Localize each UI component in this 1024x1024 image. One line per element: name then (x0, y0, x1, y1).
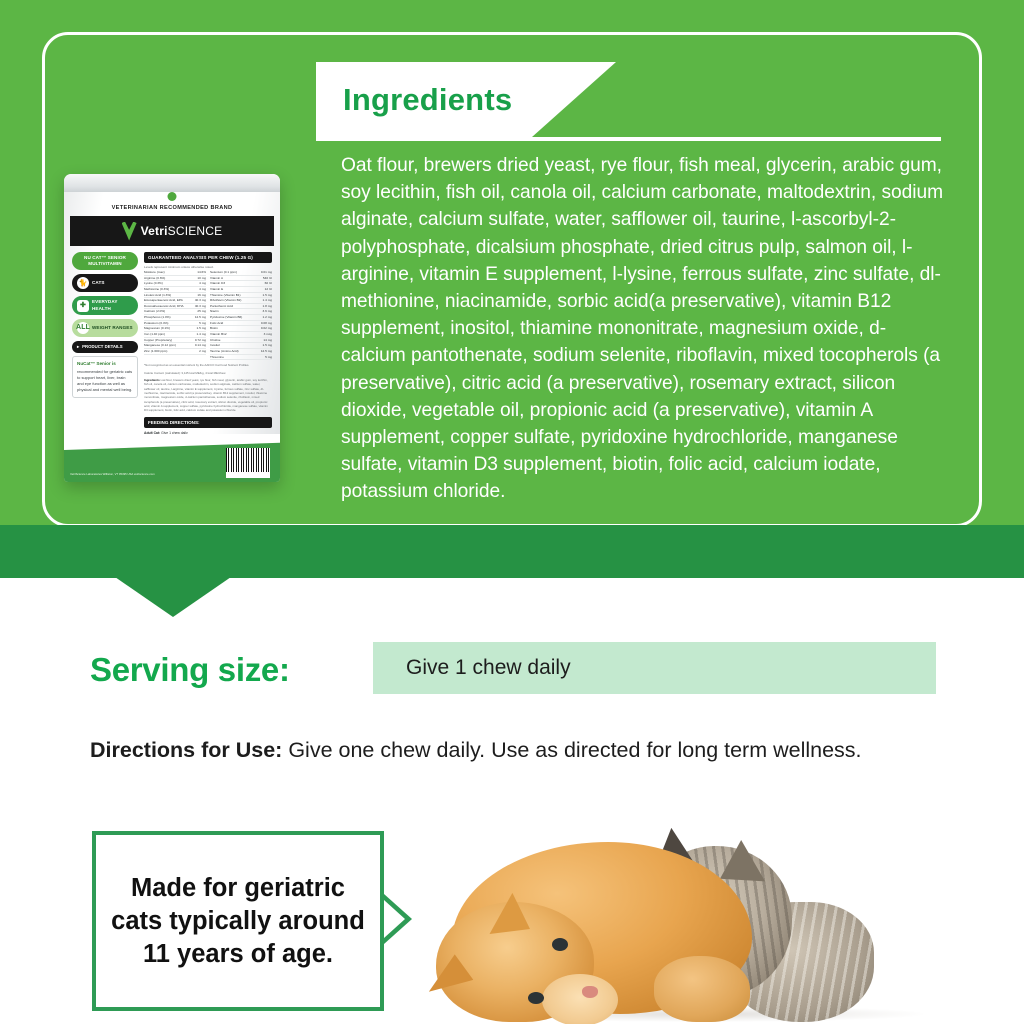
directions-for-use: Directions for Use: Give one chew daily.… (90, 735, 920, 765)
ginger-cat-muzzle (542, 974, 618, 1024)
analysis-amount: 0.14 mg (195, 343, 206, 348)
analysis-nutrient: Eicosapentaenoic Acid, EPA (144, 298, 183, 303)
badge-benefit: ✚ EVERYDAY HEALTH (72, 296, 138, 314)
barcode-icon (226, 448, 270, 478)
panel-down-arrow-icon (115, 577, 231, 617)
product-details-heading: NuCat™ Senior is (77, 361, 133, 368)
badge-benefit-label: EVERYDAY HEALTH (92, 299, 133, 311)
analysis-nutrient: Lysine (0.3%) (144, 281, 163, 286)
guaranteed-analysis-bar: GUARANTEED ANALYSIS PER CHEW (1.25 G) (144, 252, 272, 263)
analysis-nutrient: Biotin (210, 326, 218, 331)
analysis-nutrient: Selenium (0.1 ppm) (210, 270, 237, 275)
package-badge-column: NU CAT™ SENIOR MULTIVITAMIN 🐈 CATS ✚ EVE… (72, 252, 138, 398)
analysis-nutrient: Magnesium (0.1%) (144, 326, 170, 331)
analysis-nutrient: Folic Acid (210, 321, 223, 326)
badge-weight-range: ALL WEIGHT RANGES (72, 319, 138, 337)
ingredients-title: Ingredients (316, 82, 512, 118)
analysis-amount: 2 mg (199, 349, 206, 354)
aafco-note: *Not recognized as an essential nutrient… (144, 363, 272, 367)
analysis-column-right: Selenium (0.1 ppm)0.01 mgVitamin A540 IU… (210, 270, 272, 360)
badge-product-name: NU CAT™ SENIOR MULTIVITAMIN (72, 252, 138, 270)
analysis-amount: 3.6 mg (263, 309, 272, 314)
serving-size-label: Serving size: (90, 651, 290, 689)
package-brand-bar: VetriSCIENCE (70, 216, 274, 246)
chevron-right-icon: ▸ (77, 344, 79, 350)
analysis-row: Zinc (1.600 ppm)2 mg (144, 349, 206, 355)
package-front: VETERINARIAN RECOMMENDED BRAND VetriSCIE… (64, 174, 280, 482)
analysis-amount: 1.4 mg (197, 332, 206, 337)
serving-size-value: Give 1 chew daily (373, 656, 571, 680)
health-icon: ✚ (77, 300, 89, 312)
analysis-nutrient: Zinc (1.600 ppm) (144, 349, 167, 354)
analysis-amount: 12 IU (265, 287, 272, 292)
leaf-logo-icon (122, 222, 137, 241)
analysis-nutrient: Thiamine (Vitamin B1) (210, 293, 241, 298)
analysis-nutrient: Copper (Proprietary) (144, 338, 172, 343)
panel-bottom-band (0, 525, 1024, 578)
ingredients-panel: Ingredients Oat flour, brewers dried yea… (0, 0, 1024, 578)
ingredients-divider-rule (316, 137, 941, 141)
product-package-image: VETERINARIAN RECOMMENDED BRAND VetriSCIE… (64, 174, 280, 482)
ingredients-list-text: Oat flour, brewers dried yeast, rye flou… (341, 152, 949, 506)
analysis-amount: 4 mg (199, 287, 206, 292)
guaranteed-analysis-note: Levels represent minimum unless otherwis… (144, 265, 272, 269)
analysis-amount: 1.5 mg (263, 293, 272, 298)
analysis-nutrient: Iron (1.40 ppm) (144, 332, 165, 337)
analysis-amount: 3 mcg (264, 332, 272, 337)
package-top-seal (64, 174, 280, 192)
package-vet-line: VETERINARIAN RECOMMENDED BRAND (64, 205, 280, 211)
product-details-bar: ▸ PRODUCT DETAILS (72, 341, 138, 353)
analysis-column-left: Moisture (max)14.6%Arginine (0.6%)10 mgL… (144, 270, 206, 360)
analysis-amount: 60 IU (265, 281, 272, 286)
feeding-directions-bar: FEEDING DIRECTIONS: (144, 417, 272, 428)
package-ingredients-fine: Ingredients: oat flour, brewers dried ye… (144, 378, 272, 413)
analysis-amount: 40.3 mg (195, 304, 206, 309)
analysis-amount: 14.6% (197, 270, 206, 275)
package-analysis-column: GUARANTEED ANALYSIS PER CHEW (1.25 G) Le… (144, 252, 272, 461)
ginger-cat-paws (654, 956, 750, 1022)
analysis-amount: 0.08 mg (261, 321, 272, 326)
analysis-amount: 40.3 mg (195, 298, 206, 303)
analysis-nutrient: Taurine (Amino Acid) (210, 349, 239, 354)
analysis-amount: 540 IU (263, 276, 272, 281)
analysis-amount: 25 mg (197, 309, 206, 314)
analysis-amount: 12.5 mg (195, 315, 206, 320)
analysis-nutrient: Phosphorus (1.0%) (144, 315, 170, 320)
product-details-box: NuCat™ Senior is recommended for geriatr… (72, 356, 138, 398)
analysis-nutrient: Vitamin D3 (210, 281, 225, 286)
analysis-amount: 5 mg (265, 355, 272, 360)
analysis-amount: 10 mg (197, 276, 206, 281)
analysis-nutrient: Linoleic Acid (1.3%) (144, 293, 171, 298)
analysis-amount: 4 mg (199, 281, 206, 286)
brand-second: SCIENCE (168, 224, 223, 238)
weight-all-icon: ALL (77, 322, 89, 334)
brand-first: Vetri (141, 224, 168, 238)
ginger-cat-nose (582, 986, 598, 998)
analysis-amount: 5 mg (199, 321, 206, 326)
analysis-amount: 1.5 mg (197, 326, 206, 331)
callout-arrow-inner-icon (384, 900, 405, 938)
analysis-amount: 0.01 mg (261, 270, 272, 275)
analysis-nutrient: Manganese (0.12 ppm) (144, 343, 176, 348)
package-footer-strip: VetriScience Laboratories Williston, VT … (64, 434, 280, 482)
analysis-amount: 0.72 mg (195, 338, 206, 343)
product-details-label: PRODUCT DETAILS (82, 344, 123, 349)
brand-wordmark: VetriSCIENCE (141, 224, 223, 238)
directions-label: Directions for Use: (90, 738, 282, 762)
analysis-amount: 16 mg (197, 293, 206, 298)
package-address: VetriScience Laboratories Williston, VT … (70, 472, 155, 476)
serving-size-value-box: Give 1 chew daily (373, 642, 936, 694)
cats-photo (424, 806, 980, 1024)
badge-species-label: CATS (92, 280, 105, 286)
analysis-nutrient: Methionine (0.3%) (144, 287, 169, 292)
analysis-amount: 1.5 mg (263, 343, 272, 348)
ginger-cat-eye-lower (528, 992, 544, 1004)
geriatric-callout-text: Made for geriatric cats typically around… (96, 872, 380, 971)
calorie-content-note: Calorie Content (calculated): 3,125 kcal… (144, 371, 272, 375)
product-details-body: recommended for geriatric cats to suppor… (77, 369, 132, 391)
leaf-dot-icon (168, 192, 177, 201)
analysis-nutrient: Choline (210, 338, 221, 343)
analysis-nutrient: Pantothenic Acid (210, 304, 233, 309)
analysis-nutrient: Moisture (max) (144, 270, 165, 275)
analysis-amount: 12.5 mg (261, 349, 272, 354)
geriatric-callout-box: Made for geriatric cats typically around… (92, 831, 384, 1011)
analysis-nutrient: Calcium (2.0%) (144, 309, 165, 314)
serving-size-row: Serving size: Give 1 chew daily (90, 648, 950, 702)
analysis-nutrient: Riboflavin (Vitamin B2) (210, 298, 241, 303)
analysis-nutrient: Vitamin A (210, 276, 223, 281)
analysis-nutrient: Vitamin E (210, 287, 223, 292)
analysis-amount: 0.02 mg (261, 326, 272, 331)
directions-text: Give one chew daily. Use as directed for… (282, 738, 861, 762)
cat-silhouette-icon: 🐈 (77, 277, 89, 289)
ginger-cat-eye-upper (552, 938, 568, 951)
analysis-amount: 1.4 mg (263, 298, 272, 303)
guaranteed-analysis-table: Moisture (max)14.6%Arginine (0.6%)10 mgL… (144, 270, 272, 360)
analysis-row: Threonine5 mg (210, 355, 272, 361)
analysis-nutrient: Inositol (210, 343, 220, 348)
analysis-nutrient: Pyridoxine (Vitamin B6) (210, 315, 242, 320)
analysis-amount: 14 mg (263, 338, 272, 343)
badge-weight-label: WEIGHT RANGES (92, 325, 133, 331)
analysis-nutrient: Docosahexaenoic Acid, DHA (144, 304, 184, 309)
analysis-amount: 1.2 mg (263, 315, 272, 320)
analysis-nutrient: Threonine (210, 355, 224, 360)
package-ingredients-body: oat flour, brewers dried yeast, rye flou… (144, 378, 268, 413)
analysis-amount: 1.8 mg (263, 304, 272, 309)
analysis-nutrient: Arginine (0.6%) (144, 276, 165, 281)
analysis-nutrient: Potassium (0.4%) (144, 321, 168, 326)
analysis-nutrient: Niacin (210, 309, 219, 314)
badge-species: 🐈 CATS (72, 274, 138, 292)
analysis-nutrient: Vitamin B12 (210, 332, 227, 337)
